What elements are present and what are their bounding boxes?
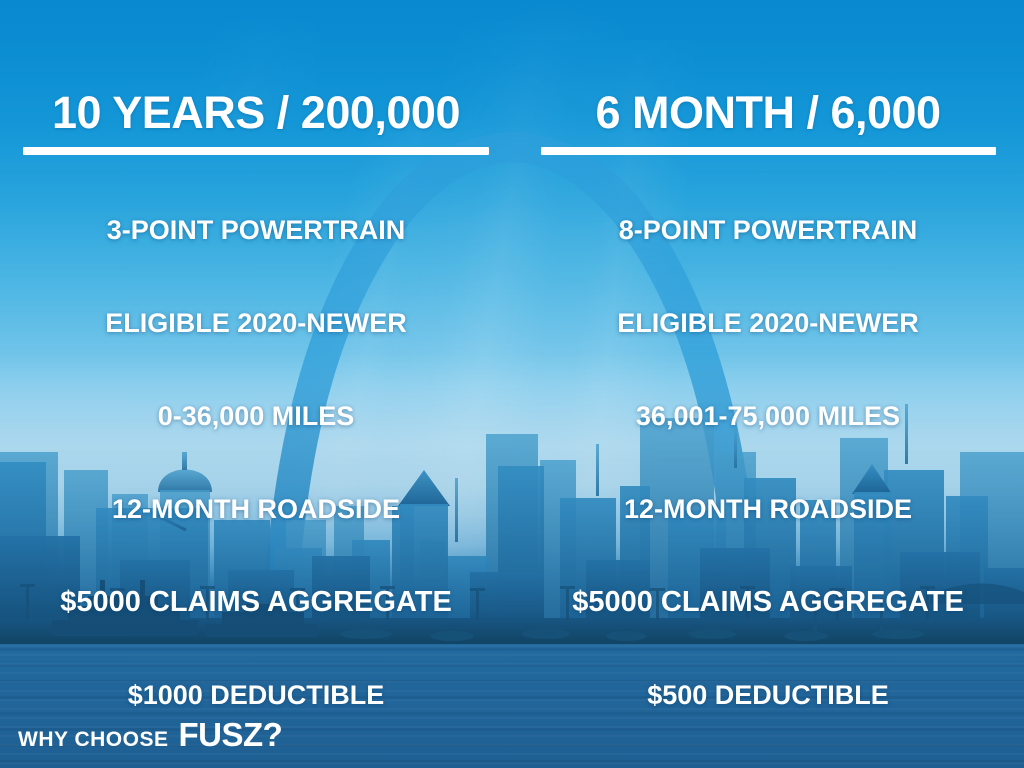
comparison-rows: 3-POINT POWERTRAIN 8-POINT POWERTRAIN EL… (0, 184, 1024, 742)
heading-left-underline (23, 147, 489, 155)
row-3-left-value: 12-MONTH ROADSIDE (0, 494, 512, 525)
row-4-left-value: $5000 CLAIMS AGGREGATE (0, 586, 512, 619)
row-0-right-value: 8-POINT POWERTRAIN (512, 215, 1024, 246)
slide-content: 10 YEARS / 200,000 6 MONTH / 6,000 3-POI… (0, 0, 1024, 768)
row-3-right-value: 12-MONTH ROADSIDE (512, 494, 1024, 525)
column-headings: 10 YEARS / 200,000 6 MONTH / 6,000 (0, 88, 1024, 155)
slide-canvas: 10 YEARS / 200,000 6 MONTH / 6,000 3-POI… (0, 0, 1024, 768)
heading-left-text: 10 YEARS / 200,000 (52, 88, 460, 138)
heading-right-text: 6 MONTH / 6,000 (595, 88, 940, 138)
row-2-left-value: 0-36,000 MILES (0, 401, 512, 432)
column-heading-right: 6 MONTH / 6,000 (512, 88, 1024, 155)
row-4-right-value: $5000 CLAIMS AGGREGATE (512, 586, 1024, 619)
table-row: ELIGIBLE 2020-NEWER ELIGIBLE 2020-NEWER (0, 277, 1024, 370)
row-5-right-value: $500 DEDUCTIBLE (512, 680, 1024, 711)
row-2-right-value: 36,001-75,000 MILES (512, 401, 1024, 432)
row-0-left-value: 3-POINT POWERTRAIN (0, 215, 512, 246)
table-row: 3-POINT POWERTRAIN 8-POINT POWERTRAIN (0, 184, 1024, 277)
table-row: 12-MONTH ROADSIDE 12-MONTH ROADSIDE (0, 463, 1024, 556)
table-row: $5000 CLAIMS AGGREGATE $5000 CLAIMS AGGR… (0, 556, 1024, 649)
row-5-left-value: $1000 DEDUCTIBLE (0, 680, 512, 711)
brand-lockup: WHY CHOOSE FUSZ? (18, 716, 282, 754)
row-1-right-value: ELIGIBLE 2020-NEWER (512, 308, 1024, 339)
table-row: 0-36,000 MILES 36,001-75,000 MILES (0, 370, 1024, 463)
footer-prefix-text: WHY CHOOSE (18, 728, 168, 752)
row-1-left-value: ELIGIBLE 2020-NEWER (0, 308, 512, 339)
column-heading-left: 10 YEARS / 200,000 (0, 88, 512, 155)
footer-brand-text: FUSZ? (178, 716, 282, 754)
heading-right-underline (541, 147, 996, 155)
